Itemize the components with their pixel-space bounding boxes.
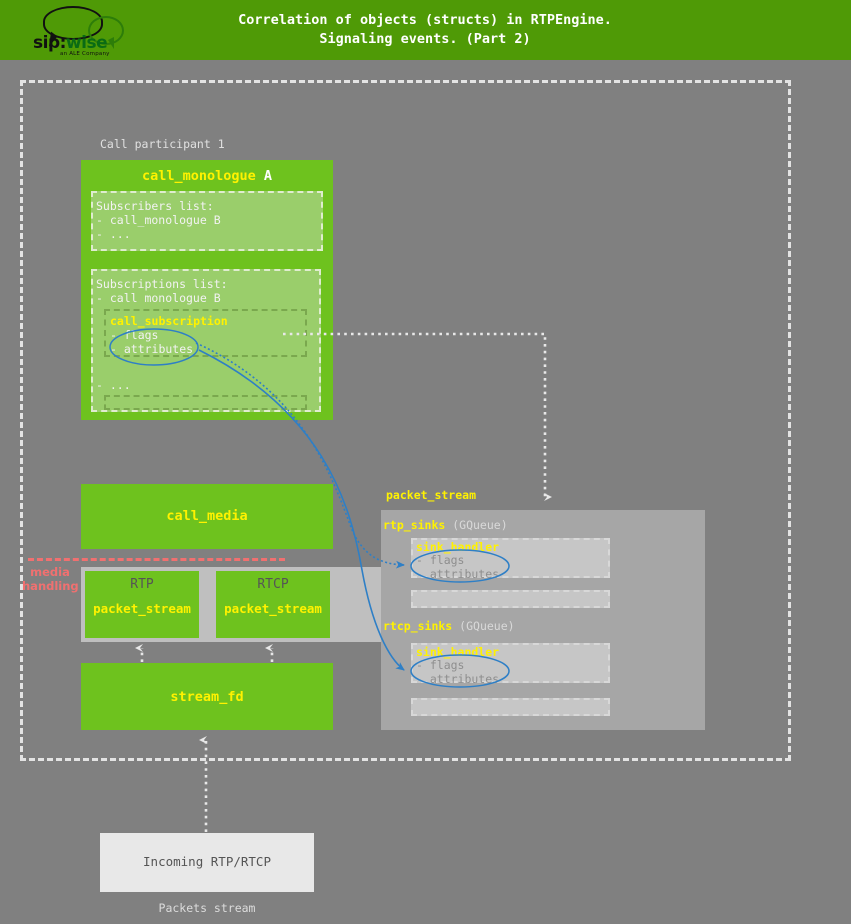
rtcp-sinks-name: rtcp_sinks — [383, 619, 452, 633]
rtcp-packet-stream-box[interactable]: RTCP packet_stream — [216, 571, 330, 638]
logo-wordmark-wise: wise — [66, 33, 107, 53]
packets-stream-caption: Packets stream — [100, 901, 314, 915]
media-handling-label-line1: media — [22, 565, 78, 579]
rtp-sink-handler-title: sink_handler — [416, 540, 499, 554]
call-monologue-a-title-suffix: A — [256, 168, 272, 184]
rtcp-sinks-type: (GQueue) — [452, 619, 514, 633]
incoming-rtp-rtcp-label: Incoming RTP/RTCP — [100, 854, 314, 869]
incoming-rtp-rtcp-box[interactable]: Incoming RTP/RTCP — [100, 833, 314, 892]
call-participant-label: Call participant 1 — [100, 137, 225, 151]
sipwise-logo: sip:wise an ALE Company — [30, 4, 130, 58]
header-bar: sip:wise an ALE Company Correlation of o… — [0, 0, 851, 60]
rtcp-sinks-label: rtcp_sinks (GQueue) — [383, 619, 515, 633]
rtcp-sink-handler-placeholder-box — [411, 698, 610, 716]
media-handling-label: media handling — [22, 565, 78, 593]
rtp-sinks-type: (GQueue) — [445, 518, 507, 532]
subscribers-list-item-0: - call_monologue B — [96, 213, 221, 228]
rtp-sink-handler-placeholder-box — [411, 590, 610, 608]
rtcp-sink-handler-title: sink_handler — [416, 645, 499, 659]
subscribers-list-item-1: - ... — [96, 227, 131, 242]
call-media-box[interactable]: call_media — [81, 484, 333, 549]
media-handling-divider — [28, 558, 285, 561]
logo-wordmark: sip:wise — [33, 36, 129, 51]
logo-wordmark-sip: sip: — [33, 33, 66, 53]
packet-stream-panel-title: packet_stream — [386, 488, 476, 502]
page-title: Correlation of objects (structs) in RTPE… — [160, 0, 690, 60]
subscribers-list-heading: Subscribers list: — [96, 199, 214, 214]
rtcp-kind-label: RTCP — [216, 577, 330, 592]
call-subscription-field-flags: - flags — [110, 328, 158, 343]
rtp-kind-label: RTP — [85, 577, 199, 592]
rtp-sink-handler-field-attributes: - attributes — [416, 567, 499, 582]
media-handling-label-line2: handling — [22, 579, 78, 593]
page-title-line1: Correlation of objects (structs) in RTPE… — [238, 11, 612, 30]
rtcp-struct-label: packet_stream — [216, 601, 330, 616]
logo-tagline: an ALE Company — [60, 51, 110, 57]
subscriptions-list-ellipsis: - ... — [96, 378, 131, 393]
rtp-sink-handler-field-flags: - flags — [416, 553, 464, 568]
subscriptions-list-heading: Subscriptions list: — [96, 277, 228, 292]
rtp-sinks-label: rtp_sinks (GQueue) — [383, 518, 508, 532]
call-media-title: call_media — [81, 508, 333, 524]
rtp-sinks-name: rtp_sinks — [383, 518, 445, 532]
call-monologue-a-title-code: call_monologue — [142, 168, 256, 184]
rtp-struct-label: packet_stream — [85, 601, 199, 616]
stream-fd-box[interactable]: stream_fd — [81, 663, 333, 730]
call-monologue-a-title: call_monologue A — [81, 168, 333, 184]
subscriptions-list-item-0: - call monologue B — [96, 291, 221, 306]
page-title-line2: Signaling events. (Part 2) — [319, 30, 530, 49]
rtp-packet-stream-box[interactable]: RTP packet_stream — [85, 571, 199, 638]
stream-fd-title: stream_fd — [81, 689, 333, 705]
call-subscription-placeholder-box — [104, 395, 307, 410]
call-subscription-field-attributes: - attributes — [110, 342, 193, 357]
rtcp-sink-handler-field-attributes: - attributes — [416, 672, 499, 687]
call-subscription-title: call_subscription — [110, 314, 228, 328]
rtcp-sink-handler-field-flags: - flags — [416, 658, 464, 673]
